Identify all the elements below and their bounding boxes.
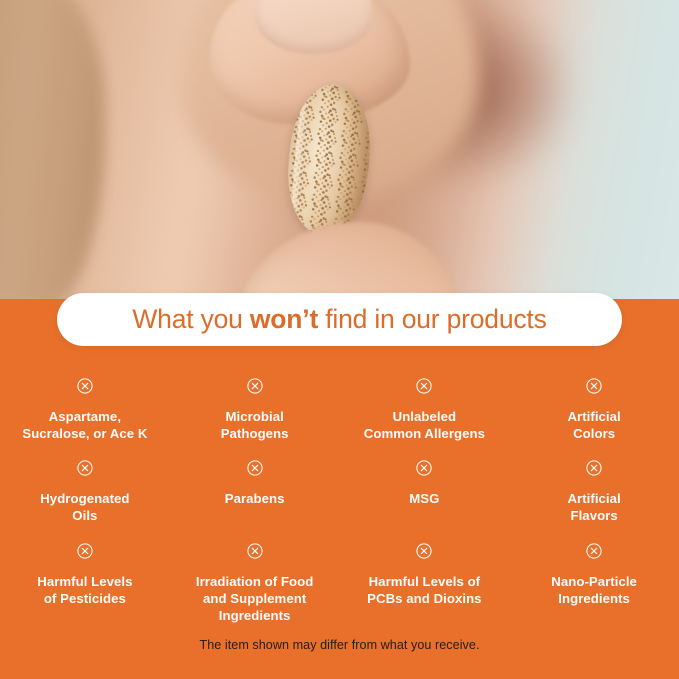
- x-circle-icon: [77, 460, 93, 481]
- grid-item-label: Artificial Flavors: [567, 490, 620, 524]
- supplement-tablet: [283, 81, 376, 239]
- grid-item: Harmful Levels of Pesticides: [0, 525, 170, 624]
- x-circle-icon: [247, 378, 263, 399]
- exclusions-grid: Aspartame, Sucralose, or Ace K Microbial…: [0, 360, 679, 624]
- grid-item: Aspartame, Sucralose, or Ace K: [0, 360, 170, 442]
- x-circle-icon: [77, 543, 93, 564]
- disclaimer-text: The item shown may differ from what you …: [0, 638, 679, 652]
- headline-part2: find in our products: [318, 304, 547, 334]
- grid-item-label: Aspartame, Sucralose, or Ace K: [22, 408, 147, 442]
- grid-item: Artificial Flavors: [509, 442, 679, 524]
- x-circle-icon: [416, 460, 432, 481]
- grid-item-label: Harmful Levels of Pesticides: [37, 573, 132, 607]
- grid-item: MSG: [340, 442, 510, 524]
- grid-item: Irradiation of Food and Supplement Ingre…: [170, 525, 340, 624]
- grid-item-label: Hydrogenated Oils: [40, 490, 129, 524]
- grid-item-label: MSG: [409, 490, 439, 507]
- x-circle-icon: [586, 543, 602, 564]
- grid-item-label: Unlabeled Common Allergens: [364, 408, 485, 442]
- grid-item: Parabens: [170, 442, 340, 524]
- x-circle-icon: [586, 378, 602, 399]
- x-circle-icon: [247, 460, 263, 481]
- grid-item-label: Irradiation of Food and Supplement Ingre…: [196, 573, 313, 624]
- x-circle-icon: [416, 378, 432, 399]
- hero-photo: [0, 0, 679, 299]
- grid-item: Artificial Colors: [509, 360, 679, 442]
- x-circle-icon: [586, 460, 602, 481]
- headline-emphasis: won’t: [250, 304, 318, 334]
- headline-part1: What you: [132, 304, 250, 334]
- grid-item-label: Microbial Pathogens: [221, 408, 289, 442]
- x-circle-icon: [77, 378, 93, 399]
- grid-item: Harmful Levels of PCBs and Dioxins: [340, 525, 510, 624]
- grid-item-label: Parabens: [225, 490, 285, 507]
- grid-item-label: Nano-Particle Ingredients: [551, 573, 637, 607]
- grid-item-label: Harmful Levels of PCBs and Dioxins: [367, 573, 481, 607]
- grid-item-label: Artificial Colors: [567, 408, 620, 442]
- grid-item: Hydrogenated Oils: [0, 442, 170, 524]
- grid-item: Unlabeled Common Allergens: [340, 360, 510, 442]
- x-circle-icon: [247, 543, 263, 564]
- grid-item: Microbial Pathogens: [170, 360, 340, 442]
- x-circle-icon: [416, 543, 432, 564]
- page-title: What you won’t find in our products: [132, 304, 546, 335]
- grid-item: Nano-Particle Ingredients: [509, 525, 679, 624]
- headline-pill: What you won’t find in our products: [57, 293, 622, 346]
